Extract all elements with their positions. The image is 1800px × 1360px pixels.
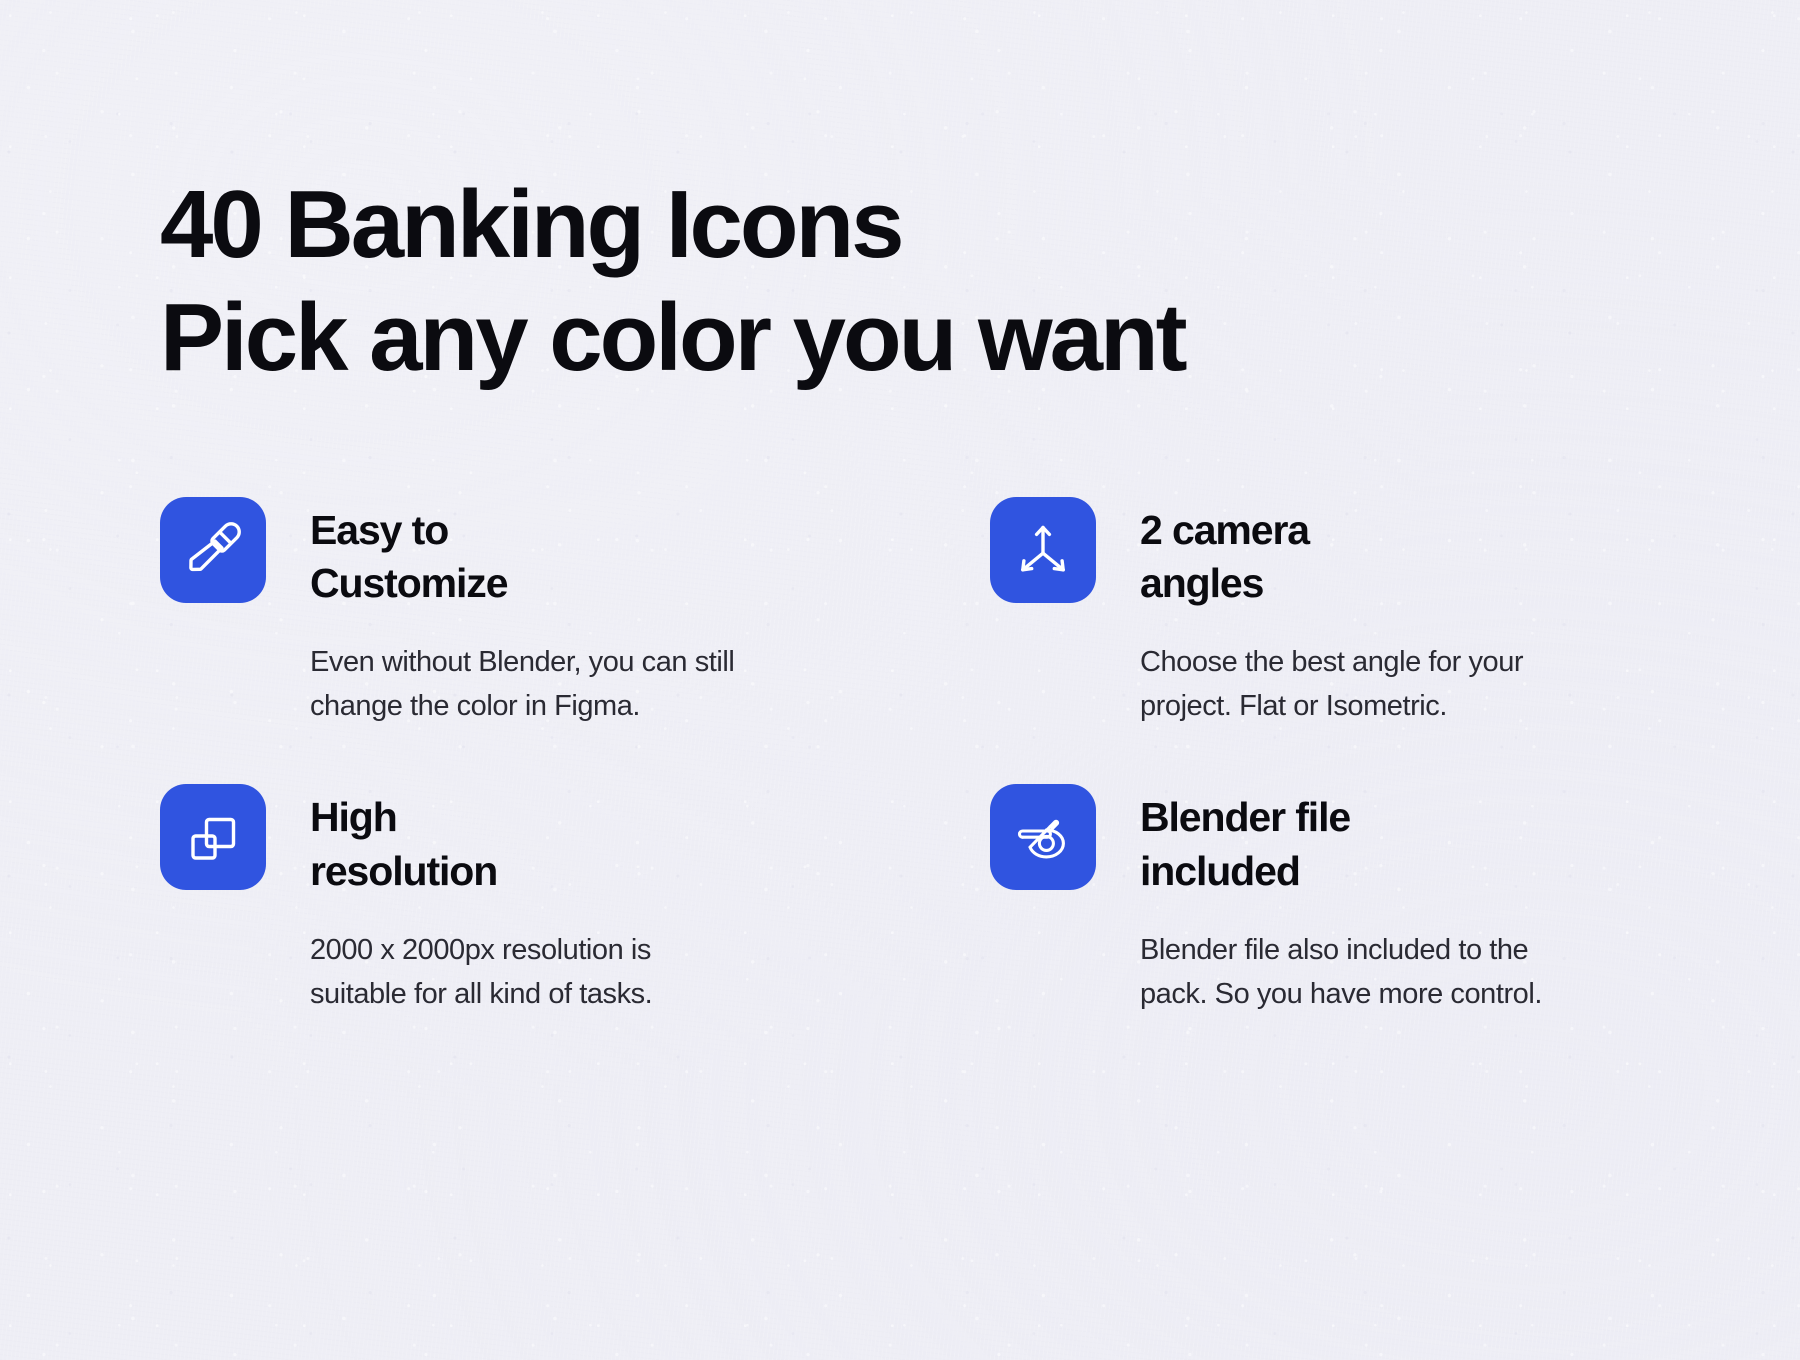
overlapping-squares-icon [182,806,244,868]
feature-icon-box [160,497,266,603]
blender-logo-icon [1012,806,1074,868]
feature-header: Easy to Customize [160,497,860,611]
feature-title: 2 camera angles [1140,497,1309,611]
feature-item-high-resolution: High resolution 2000 x 2000px resolution… [160,784,860,1016]
promo-page: 40 Banking Icons Pick any color you want… [0,0,1800,1360]
three-axis-arrows-icon [1012,519,1074,581]
feature-item-blender-file: Blender file included Blender file also … [990,784,1690,1016]
feature-icon-box [990,497,1096,603]
feature-item-camera-angles: 2 camera angles Choose the best angle fo… [990,497,1690,729]
feature-grid: Easy to Customize Even without Blender, … [160,497,1640,1017]
page-title: 40 Banking Icons Pick any color you want [160,0,1640,395]
feature-description: Even without Blender, you can still chan… [310,640,860,728]
feature-title: Blender file included [1140,784,1350,898]
headline-line-2: Pick any color you want [160,281,1640,394]
feature-title: Easy to Customize [310,497,507,611]
feature-header: High resolution [160,784,860,898]
eyedropper-icon [182,519,244,581]
feature-title: High resolution [310,784,497,898]
feature-header: 2 camera angles [990,497,1690,611]
feature-description: Choose the best angle for your project. … [1140,640,1690,728]
feature-description: 2000 x 2000px resolution is suitable for… [310,928,860,1016]
headline-line-1: 40 Banking Icons [160,168,1640,281]
feature-description: Blender file also included to the pack. … [1140,928,1690,1016]
feature-item-easy-to-customize: Easy to Customize Even without Blender, … [160,497,860,729]
feature-icon-box [990,784,1096,890]
feature-icon-box [160,784,266,890]
feature-header: Blender file included [990,784,1690,898]
